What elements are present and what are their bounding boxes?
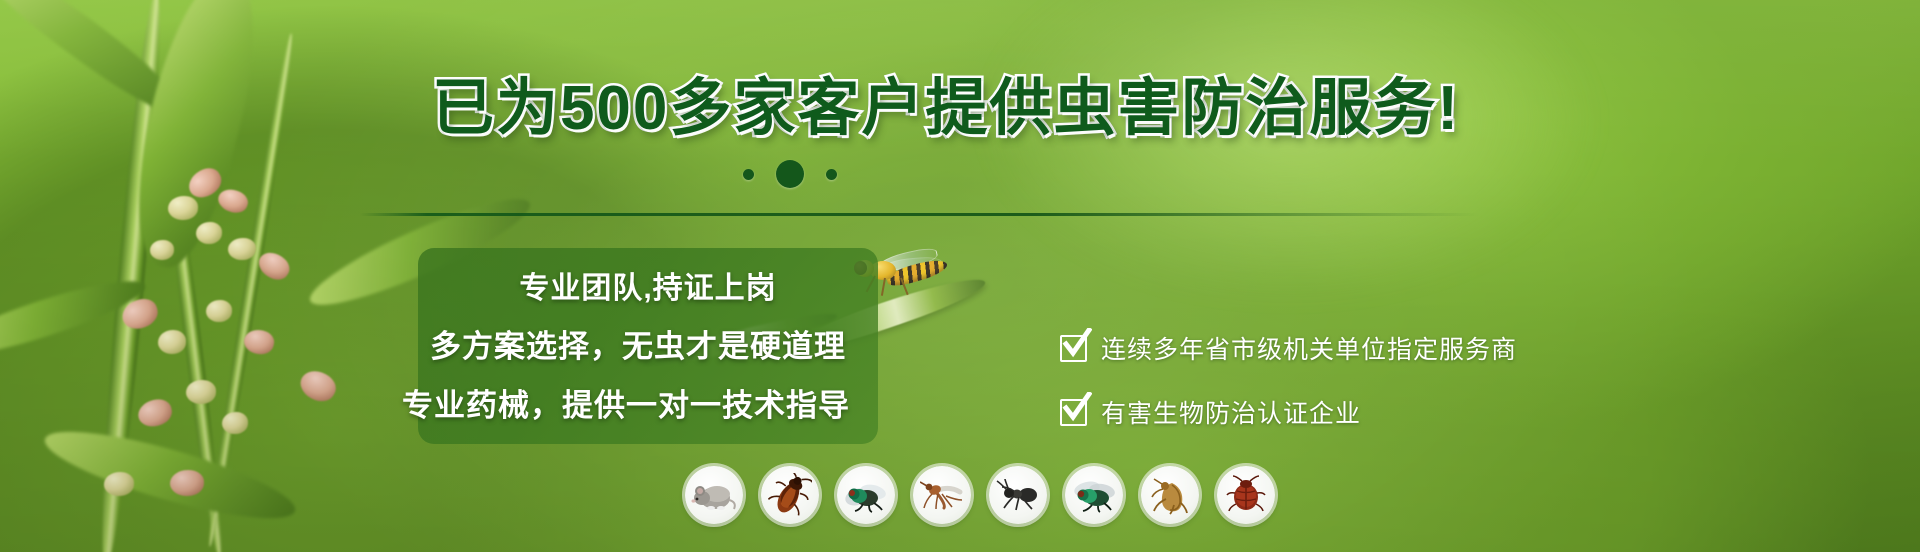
credential-label: 有害生物防治认证企业 — [1101, 394, 1361, 430]
checkbox-checked-icon — [1060, 399, 1087, 426]
divider — [360, 213, 1480, 216]
headline-text: 已为500多家客户提供虫害防治服务! — [432, 74, 1460, 143]
blowfly-icon[interactable] — [1065, 466, 1123, 524]
flea-icon[interactable] — [1141, 466, 1199, 524]
credential-label: 连续多年省市级机关单位指定服务商 — [1101, 330, 1517, 366]
fly-icon[interactable] — [837, 466, 895, 524]
page-title: 已为500多家客户提供虫害防治服务! — [0, 78, 1906, 140]
feature-panel: 专业团队,持证上岗 多方案选择，无虫才是硬道理 专业药械，提供一对一技术指导 — [418, 248, 878, 444]
dot-small-left-icon — [743, 169, 754, 180]
bedbug-icon[interactable] — [1217, 466, 1275, 524]
dot-large-icon — [776, 160, 804, 188]
credentials-list: 连续多年省市级机关单位指定服务商 有害生物防治认证企业 — [1060, 330, 1517, 430]
feature-line-1: 专业团队,持证上岗 — [519, 263, 776, 307]
ant-icon[interactable] — [989, 466, 1047, 524]
feature-line-3: 专业药械，提供一对一技术指导 — [402, 380, 850, 425]
pest-icon-row — [685, 466, 1275, 524]
promo-banner: 已为500多家客户提供虫害防治服务! 专业团队,持证上岗 多方案选择，无虫才是硬… — [0, 0, 1920, 552]
list-item: 有害生物防治认证企业 — [1060, 394, 1517, 430]
checkbox-checked-icon — [1060, 335, 1087, 362]
list-item: 连续多年省市级机关单位指定服务商 — [1060, 330, 1517, 366]
feature-line-2: 多方案选择，无虫才是硬道理 — [430, 321, 846, 366]
mosquito-icon[interactable] — [913, 466, 971, 524]
dot-small-right-icon — [826, 169, 837, 180]
decorative-dots — [0, 160, 1750, 188]
cockroach-icon[interactable] — [761, 466, 819, 524]
mouse-icon[interactable] — [685, 466, 743, 524]
